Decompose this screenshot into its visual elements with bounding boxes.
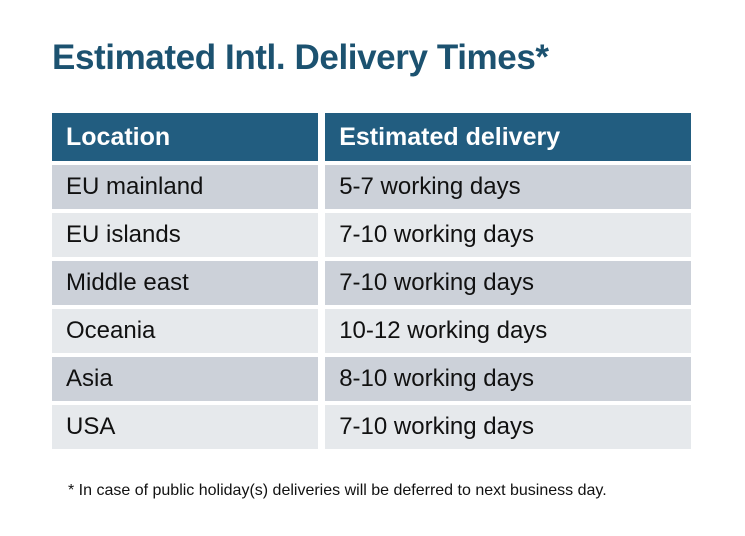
estimated-delivery-table: Location Estimated delivery EU mainland … [52, 113, 691, 449]
column-header-estimated-delivery: Estimated delivery [325, 113, 691, 161]
cell-location: Oceania [52, 305, 325, 353]
table-row: Oceania 10-12 working days [52, 305, 691, 353]
cell-location: EU islands [52, 209, 325, 257]
table-header-row: Location Estimated delivery [52, 113, 691, 161]
cell-location: Middle east [52, 257, 325, 305]
cell-location: USA [52, 401, 325, 449]
cell-location: EU mainland [52, 161, 325, 209]
table-header: Location Estimated delivery [52, 113, 691, 161]
cell-estimated-delivery: 7-10 working days [325, 209, 691, 257]
cell-location: Asia [52, 353, 325, 401]
delivery-times-page: Estimated Intl. Delivery Times* Location… [0, 0, 745, 536]
footnote: * In case of public holiday(s) deliverie… [68, 481, 607, 501]
table-row: EU islands 7-10 working days [52, 209, 691, 257]
table-row: USA 7-10 working days [52, 401, 691, 449]
table-row: Middle east 7-10 working days [52, 257, 691, 305]
page-title: Estimated Intl. Delivery Times* [52, 36, 549, 80]
cell-estimated-delivery: 7-10 working days [325, 257, 691, 305]
cell-estimated-delivery: 10-12 working days [325, 305, 691, 353]
cell-estimated-delivery: 7-10 working days [325, 401, 691, 449]
table-row: Asia 8-10 working days [52, 353, 691, 401]
table-body: EU mainland 5-7 working days EU islands … [52, 161, 691, 449]
table-row: EU mainland 5-7 working days [52, 161, 691, 209]
column-header-location: Location [52, 113, 325, 161]
cell-estimated-delivery: 8-10 working days [325, 353, 691, 401]
cell-estimated-delivery: 5-7 working days [325, 161, 691, 209]
